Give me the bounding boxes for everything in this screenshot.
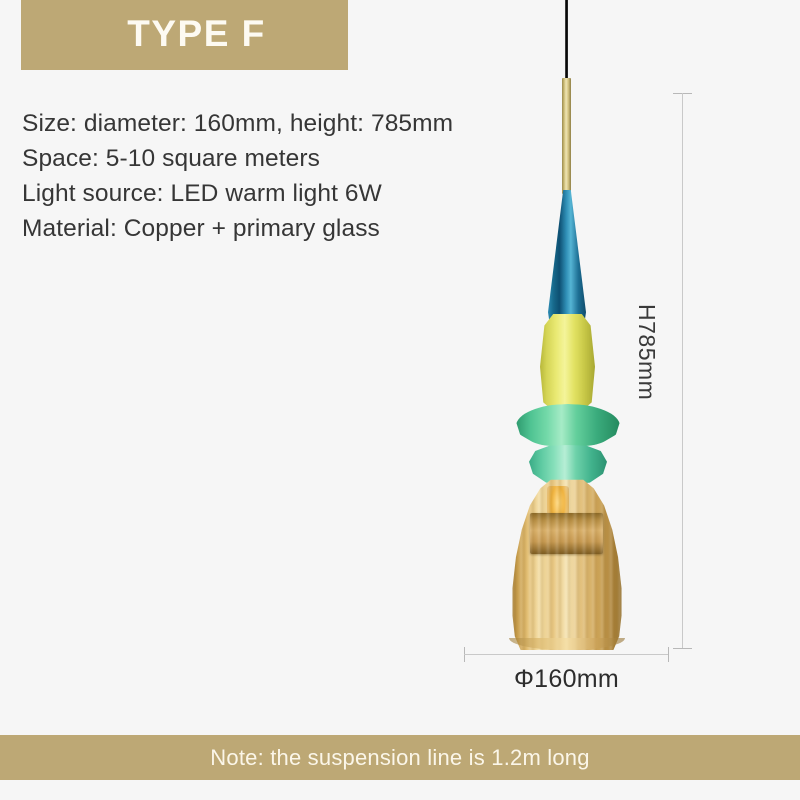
suspension-cord bbox=[565, 0, 568, 80]
height-dimension-label: H785mm bbox=[631, 300, 662, 404]
amber-glass-bell-shade bbox=[509, 478, 625, 650]
type-banner-label: TYPE F bbox=[103, 15, 266, 55]
diameter-dimension-label: Φ160mm bbox=[464, 665, 669, 694]
spec-line-light-source: Light source: LED warm light 6W bbox=[22, 176, 562, 211]
note-bar-text: Note: the suspension line is 1.2m long bbox=[210, 745, 589, 771]
yellow-glass-body bbox=[540, 314, 595, 410]
diameter-dimension-tick-right bbox=[668, 647, 669, 662]
specification-list: Size: diameter: 160mm, height: 785mm Spa… bbox=[22, 106, 562, 246]
height-dimension-line bbox=[682, 93, 683, 649]
spec-line-space: Space: 5-10 square meters bbox=[22, 141, 562, 176]
type-banner: TYPE F bbox=[21, 0, 348, 70]
note-bar: Note: the suspension line is 1.2m long bbox=[0, 735, 800, 780]
diameter-dimension-line bbox=[464, 654, 669, 655]
bell-inner-reflector bbox=[530, 513, 603, 554]
bell-flute-texture bbox=[509, 478, 625, 650]
led-glow bbox=[547, 486, 569, 528]
green-glass-disc-upper bbox=[516, 404, 620, 448]
brass-rod bbox=[562, 78, 571, 194]
product-spec-page: TYPE F Size: diameter: 160mm, height: 78… bbox=[0, 0, 800, 800]
spec-line-material: Material: Copper + primary glass bbox=[22, 211, 562, 246]
green-glass-disc-lower bbox=[529, 445, 607, 485]
spec-line-size: Size: diameter: 160mm, height: 785mm bbox=[22, 106, 562, 141]
height-dimension-tick-bottom bbox=[673, 648, 692, 649]
bell-rim bbox=[509, 638, 625, 650]
